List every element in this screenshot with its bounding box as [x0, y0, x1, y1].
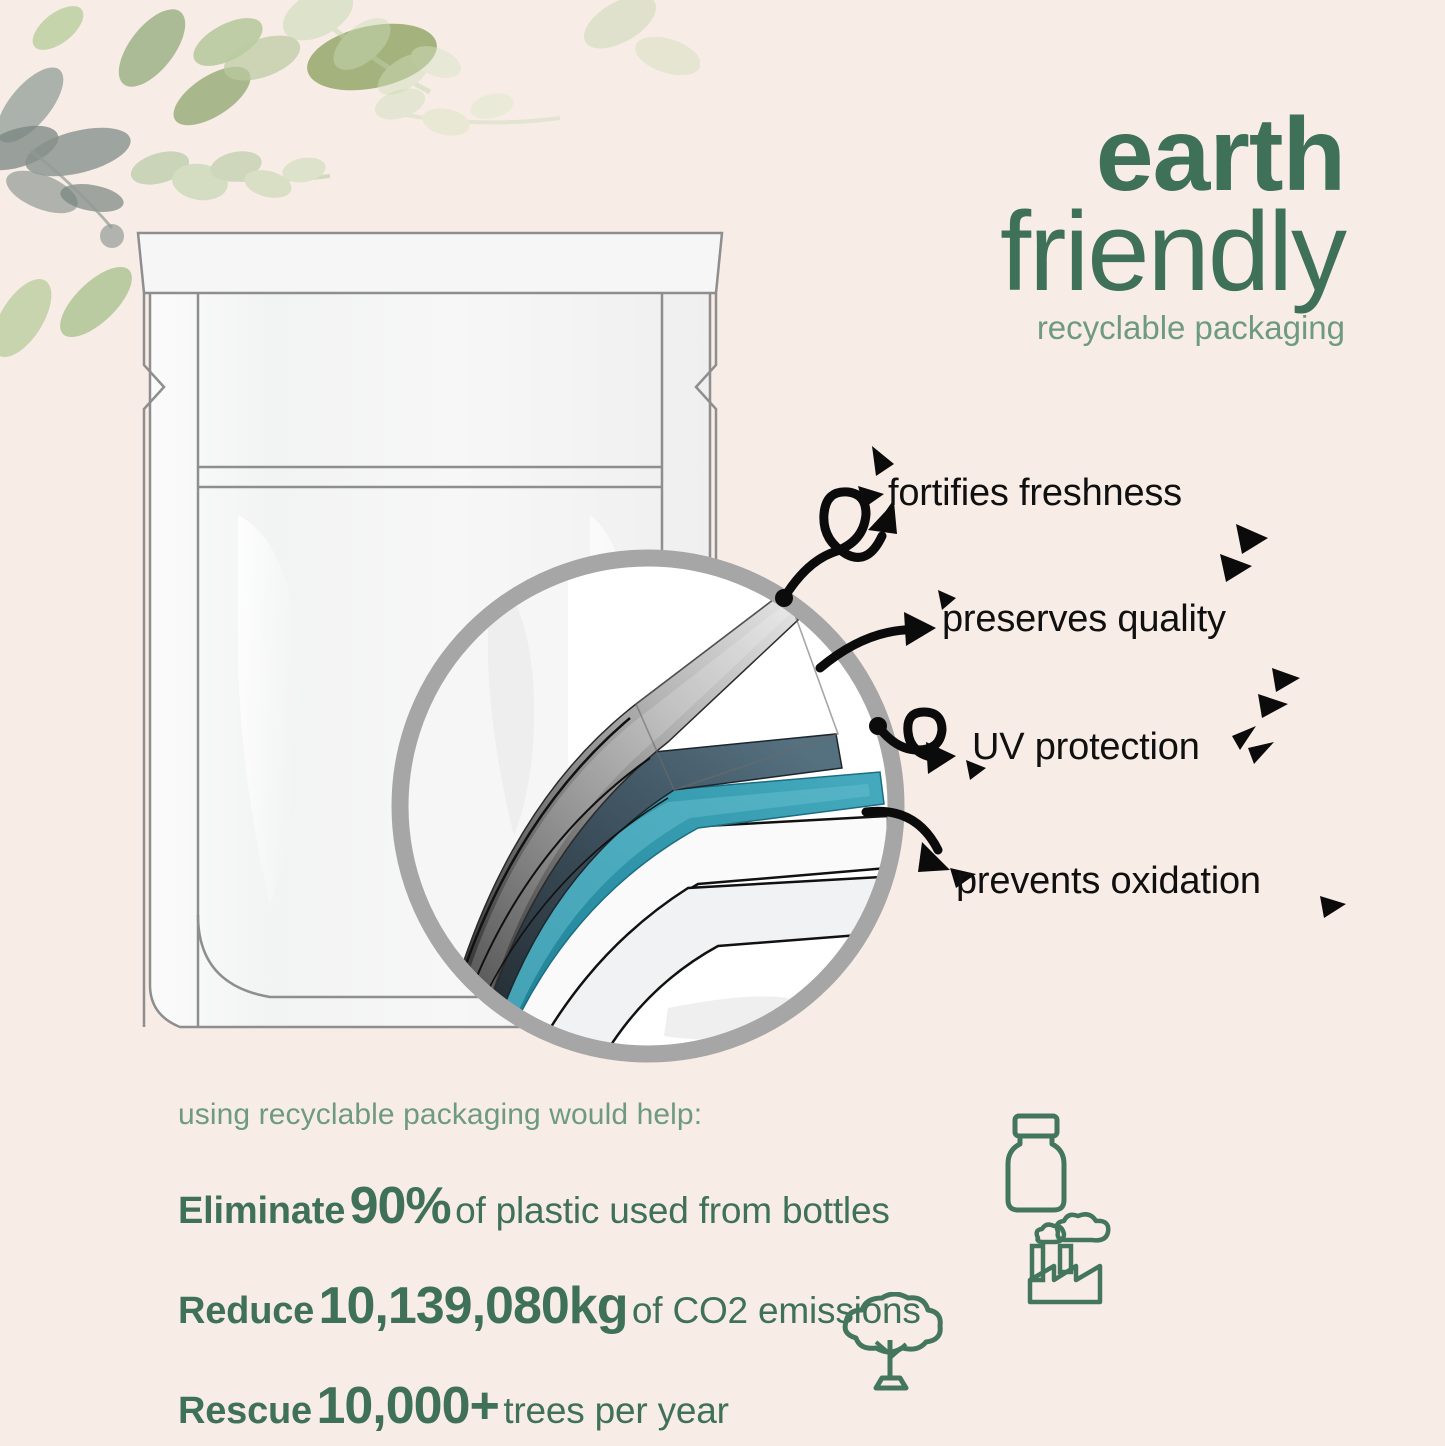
pouch-top-band [138, 233, 722, 293]
headline-subtitle: recyclable packaging [1000, 313, 1345, 343]
magnified-cross-section [368, 528, 928, 1090]
stats-block: using recyclable packaging would help: E… [178, 1098, 1318, 1446]
feature-label-uv-protection: UV protection [972, 726, 1200, 769]
feature-label-preserves-quality: preserves quality [942, 598, 1226, 641]
stat-verb: Eliminate [178, 1190, 345, 1232]
feature-label-fortifies-freshness: fortifies freshness [888, 472, 1182, 515]
infographic-poster: earth friendly recyclable packaging fort… [0, 0, 1445, 1446]
stat-verb: Rescue [178, 1390, 312, 1432]
spark-accents [858, 446, 1346, 918]
tree-icon [832, 1292, 950, 1402]
bottle-icon [998, 1112, 1074, 1216]
stat-row-rescue: Rescue 10,000+ trees per year [178, 1376, 1318, 1436]
factory-icon [1020, 1212, 1132, 1308]
stat-row-reduce: Reduce 10,139,080kg of CO2 emissions [178, 1276, 1318, 1336]
stat-verb: Reduce [178, 1290, 314, 1332]
stat-value: 10,000+ [316, 1377, 498, 1435]
feature-label-prevents-oxidation: prevents oxidation [956, 860, 1261, 903]
headline-line-2: friendly [1000, 200, 1345, 303]
stat-row-eliminate: Eliminate 90% of plastic used from bottl… [178, 1176, 1318, 1236]
stat-value: 90% [350, 1177, 451, 1235]
headline-block: earth friendly recyclable packaging [1000, 108, 1345, 343]
stats-intro-text: using recyclable packaging would help: [178, 1098, 1318, 1132]
stat-rest: trees per year [503, 1390, 728, 1431]
stat-value: 10,139,080kg [319, 1277, 628, 1335]
stat-rest: of plastic used from bottles [455, 1190, 890, 1231]
